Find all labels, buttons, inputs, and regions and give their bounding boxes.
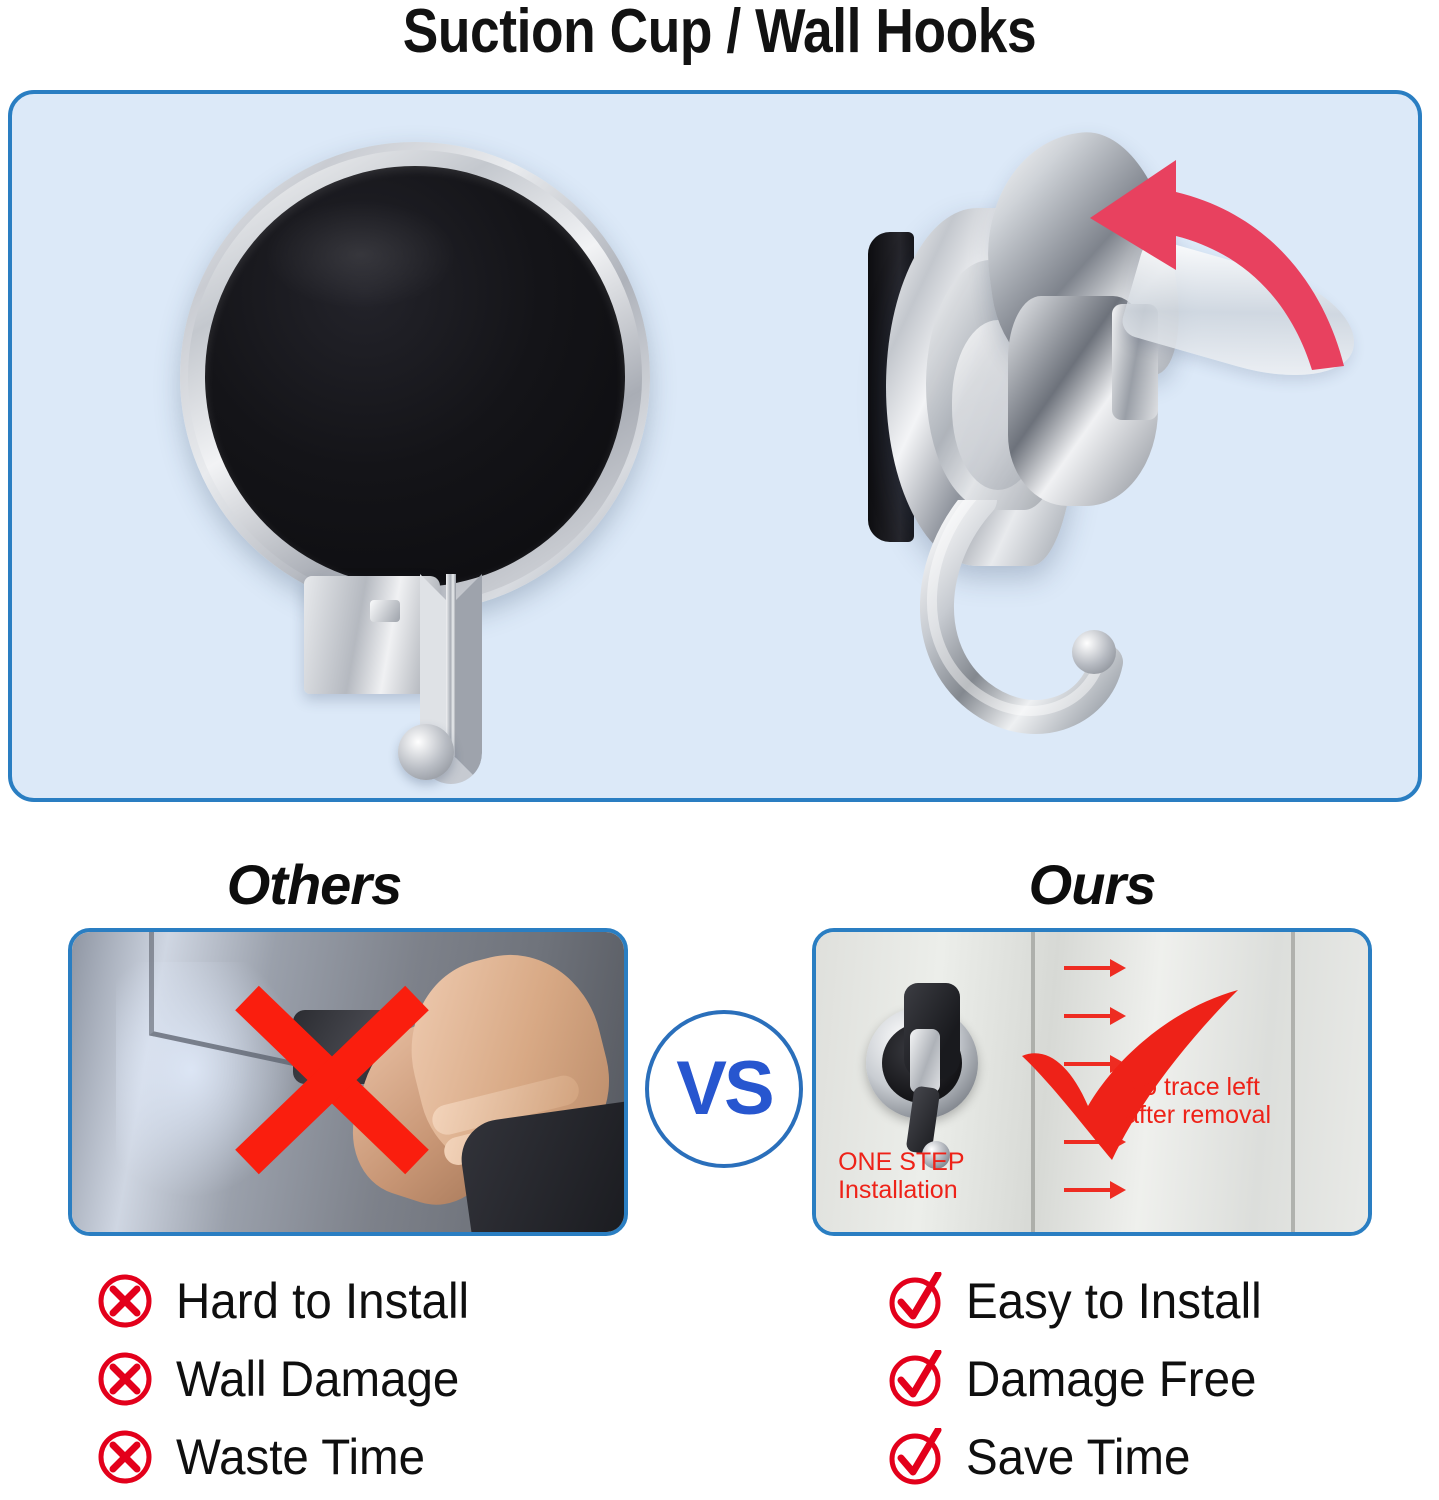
lever-motion-arrow-icon [1026, 144, 1356, 374]
list-item: Waste Time [96, 1418, 484, 1496]
product-front-view-image [162, 124, 722, 784]
feature-label: Wall Damage [176, 1350, 459, 1408]
one-step-note: ONE STEP Installation [838, 1148, 964, 1204]
page-title: Suction Cup / Wall Hooks [101, 0, 1339, 67]
disc-gloss-highlight [264, 200, 457, 309]
vs-badge: VS [645, 1010, 803, 1168]
others-photo-panel [68, 928, 628, 1236]
feature-label: Hard to Install [176, 1272, 469, 1330]
j-hook-shape [920, 500, 1150, 750]
circle-x-icon [96, 1428, 154, 1486]
circle-x-icon [96, 1350, 154, 1408]
circle-check-icon [886, 1428, 944, 1486]
installed-hook-latch [910, 1029, 940, 1093]
red-arrow-icon [1064, 1181, 1126, 1199]
front-hook-arm [376, 574, 536, 798]
list-item: Damage Free [886, 1340, 1277, 1418]
ours-photo-panel: No trace left after removal ONE STEP Ins… [812, 928, 1372, 1236]
list-item: Hard to Install [96, 1262, 484, 1340]
hero-product-panel [8, 90, 1422, 802]
others-feature-list: Hard to Install Wall Damage Waste Time [96, 1262, 484, 1496]
feature-label: Easy to Install [966, 1272, 1262, 1330]
suction-disc-ring [188, 150, 642, 604]
no-trace-note: No trace left after removal [1125, 1073, 1271, 1129]
hero-stage [12, 94, 1418, 798]
ours-photo-installed-hook [866, 983, 992, 1173]
feature-label: Waste Time [176, 1428, 425, 1486]
j-hook [920, 500, 1150, 750]
feature-label: Save Time [966, 1428, 1190, 1486]
suction-disc-rim [180, 142, 650, 612]
feature-label: Damage Free [966, 1350, 1256, 1408]
arrow-head [1110, 959, 1126, 977]
ours-heading: Ours [812, 852, 1372, 917]
vs-label: VS [676, 1051, 771, 1127]
arrow-shaft [1064, 1188, 1110, 1192]
red-arrow-icon [1064, 959, 1126, 977]
others-heading: Others [0, 852, 628, 917]
circle-x-icon [96, 1272, 154, 1330]
product-side-view-image [812, 124, 1412, 784]
hook-ball-tip [398, 724, 454, 780]
circle-check-icon [886, 1350, 944, 1408]
circle-check-icon [886, 1272, 944, 1330]
ours-photo-door-seam [1291, 932, 1295, 1232]
red-x-mark-icon [227, 980, 437, 1180]
others-photo-scene [72, 932, 624, 1232]
list-item: Save Time [886, 1418, 1277, 1496]
j-hook-ball-tip [1072, 630, 1116, 674]
arrow-head [1110, 1181, 1126, 1199]
ours-photo-scene: No trace left after removal ONE STEP Ins… [816, 932, 1368, 1232]
ours-feature-list: Easy to Install Damage Free Save Time [886, 1262, 1277, 1496]
suction-disc-black-face [205, 166, 625, 587]
list-item: Wall Damage [96, 1340, 484, 1418]
list-item: Easy to Install [886, 1262, 1277, 1340]
arrow-shaft [1064, 966, 1110, 970]
